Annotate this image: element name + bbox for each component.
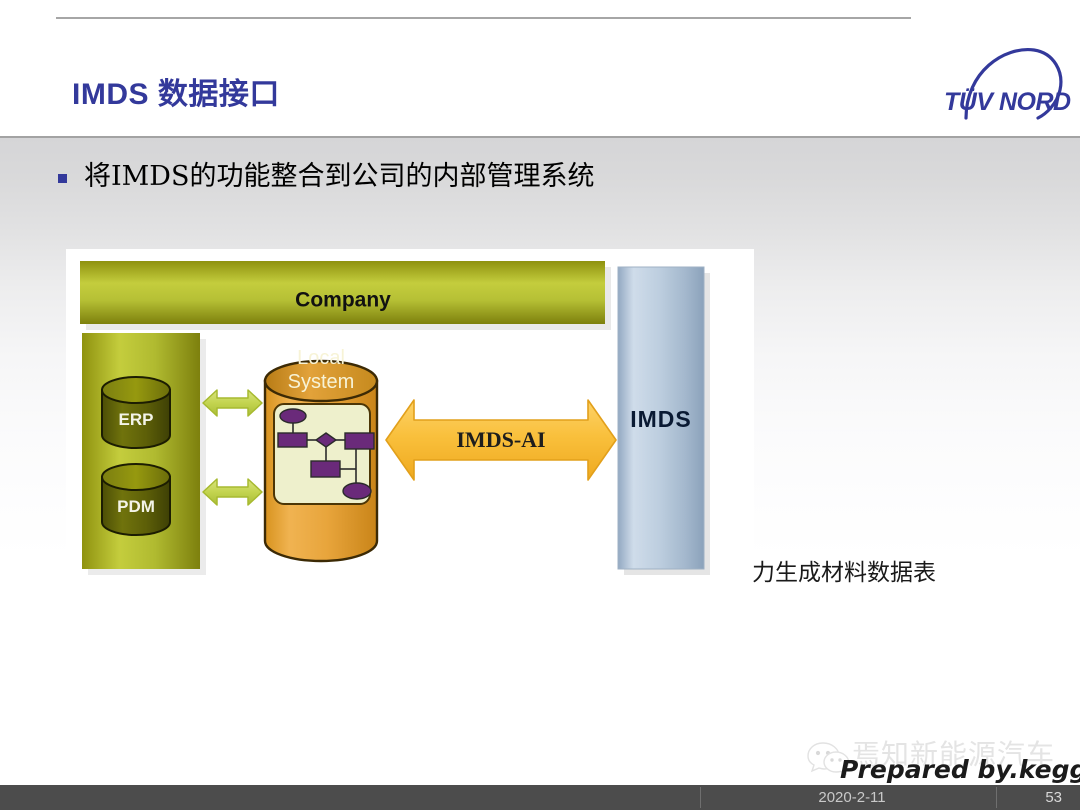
imds-ai-label: IMDS-AI	[456, 427, 545, 452]
page-title: IMDS 数据接口	[72, 80, 280, 110]
flow-end-node	[343, 483, 371, 499]
local-system-label-line1: Local	[297, 347, 345, 369]
footer-page-number: 53	[1045, 789, 1062, 806]
pdm-cylinder: PDM	[102, 464, 170, 535]
slide-header: IMDS 数据接口 TÜV NORD	[0, 0, 1080, 137]
erp-label: ERP	[119, 410, 154, 429]
local-system-flowchart	[274, 404, 374, 504]
tuv-nord-wordmark: TÜV NORD	[944, 87, 1071, 116]
prepared-by-text: Prepared by.keggin	[840, 755, 1080, 784]
tuv-nord-wordmark-text: TÜV NORD	[944, 87, 1071, 116]
footer-separator-right	[996, 787, 997, 808]
flow-start-node	[280, 409, 306, 423]
flow-process-node-3	[311, 461, 340, 477]
footer-date: 2020-2-11	[818, 789, 885, 806]
imds-column: IMDS	[618, 267, 710, 575]
company-banner: Company	[80, 261, 611, 330]
imds-label: IMDS	[630, 406, 692, 432]
company-label: Company	[295, 289, 391, 312]
header-rule	[56, 17, 911, 19]
flow-process-node-1	[278, 433, 307, 447]
erp-cylinder: ERP	[102, 377, 170, 448]
footer-separator-left	[700, 787, 701, 808]
diagram-caption: 力生成材料数据表	[752, 553, 936, 587]
bullet-item: 将IMDS的功能整合到公司的内部管理系统	[58, 160, 594, 194]
tuv-nord-logo: TÜV NORD	[942, 44, 1072, 124]
flow-process-node-2	[345, 433, 374, 449]
local-system-label-line2: System	[288, 371, 355, 393]
local-system-cylinder: Local System	[265, 347, 377, 561]
slide-footer: 2020-2-11 53	[0, 785, 1080, 810]
header-divider	[0, 136, 1080, 138]
imds-interface-diagram: Company ERP PDM	[66, 249, 754, 581]
slide-canvas: IMDS 数据接口 TÜV NORD 将IMDS的功能整合到公司的内部管理系统	[0, 0, 1080, 810]
bullet-marker-icon	[58, 174, 67, 183]
pdm-label: PDM	[117, 497, 155, 516]
company-left-column	[82, 333, 206, 575]
bullet-text: 将IMDS的功能整合到公司的内部管理系统	[84, 160, 594, 194]
